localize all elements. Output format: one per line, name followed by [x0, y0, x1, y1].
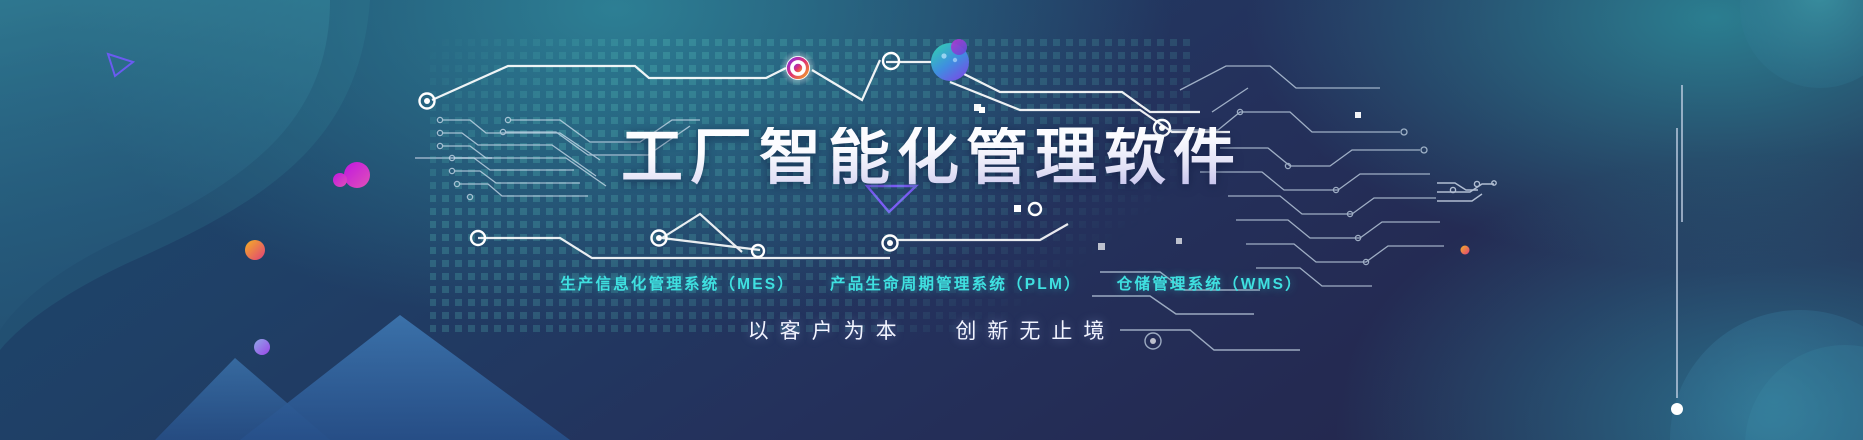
- rainbow-node-icon: [780, 50, 816, 86]
- subtitle-item-plm: 产品生命周期管理系统（PLM）: [830, 276, 1082, 293]
- subtitle-item-mes: 生产信息化管理系统（MES）: [560, 276, 795, 293]
- subtitle-item-wms: 仓储管理系统（WMS）: [1117, 276, 1303, 293]
- product-systems-subtitle: 生产信息化管理系统（MES） 产品生命周期管理系统（PLM） 仓储管理系统（WM…: [0, 272, 1863, 294]
- slogan-part-1: 以客户为本: [748, 320, 908, 343]
- hero-banner: 工厂智能化管理软件 生产信息化管理系统（MES） 产品生命周期管理系统（PLM）…: [0, 0, 1863, 440]
- page-title: 工厂智能化管理软件: [0, 127, 1863, 189]
- circuit-artwork-layer: [0, 0, 1863, 440]
- slogan-part-2: 创新无止境: [955, 320, 1115, 343]
- slogan: 以客户为本 创新无止境: [0, 315, 1863, 345]
